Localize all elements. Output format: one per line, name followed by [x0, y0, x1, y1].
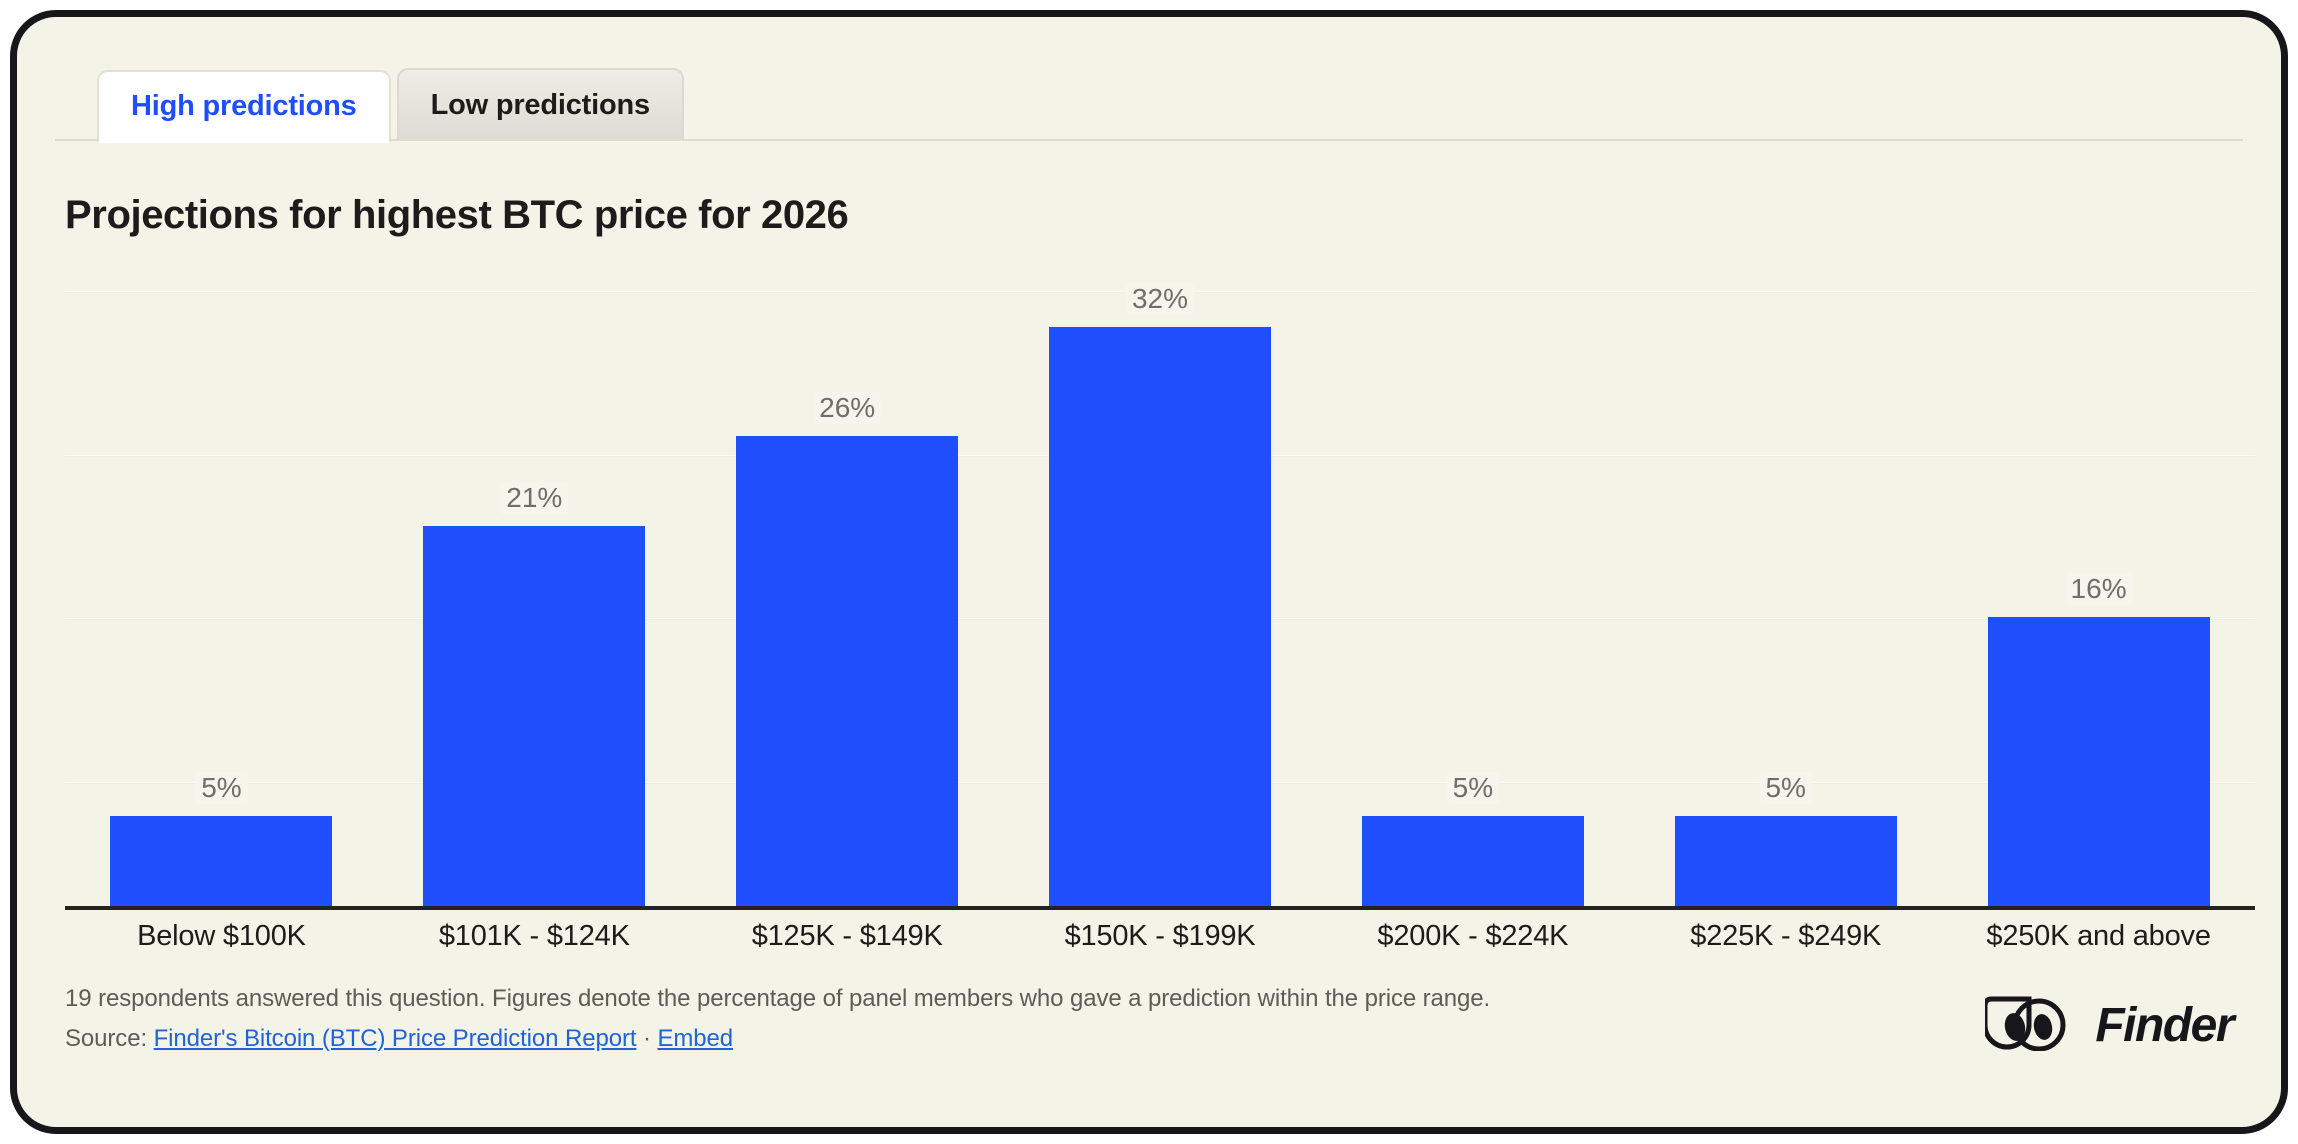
bar-group: 26%: [691, 255, 1004, 906]
x-axis-tick-label: $101K - $124K: [378, 920, 691, 953]
bar-value-label: 21%: [500, 482, 568, 514]
finder-eyes-icon: [1985, 995, 2083, 1056]
chart-footer: 19 respondents answered this question. F…: [65, 982, 2233, 1053]
x-axis-tick-label: Below $100K: [65, 920, 378, 953]
chart-card: High predictions Low predictions Project…: [10, 10, 2288, 1134]
bar-value-label: 5%: [1447, 772, 1499, 804]
bar[interactable]: 26%: [736, 436, 958, 906]
page-title: Projections for highest BTC price for 20…: [65, 193, 848, 238]
bar-group: 16%: [1942, 255, 2255, 906]
x-axis-tick-label: $150K - $199K: [1004, 920, 1317, 953]
tab-bar: High predictions Low predictions: [17, 64, 2281, 141]
x-axis-line: [65, 906, 2255, 910]
bar[interactable]: 5%: [1362, 816, 1584, 906]
bar-value-label: 5%: [1759, 772, 1811, 804]
bar-series: 5% 21% 26% 32% 5%: [65, 255, 2255, 906]
bar-group: 5%: [1316, 255, 1629, 906]
source-prefix: Source:: [65, 1025, 147, 1052]
bar-value-label: 26%: [813, 392, 881, 424]
bar-group: 5%: [65, 255, 378, 906]
bar-group: 21%: [378, 255, 691, 906]
tab-high-predictions-label: High predictions: [131, 90, 357, 123]
finder-logo: Finder: [1985, 995, 2233, 1056]
finder-wordmark: Finder: [2095, 998, 2233, 1053]
bar-value-label: 32%: [1126, 283, 1194, 315]
x-axis-tick-label: $250K and above: [1942, 920, 2255, 953]
bar[interactable]: 21%: [423, 526, 645, 906]
tab-low-predictions-label: Low predictions: [431, 89, 650, 122]
bar-group: 5%: [1629, 255, 1942, 906]
footnote-text: 19 respondents answered this question. F…: [65, 982, 2233, 1017]
bar[interactable]: 32%: [1049, 327, 1271, 906]
tab-low-predictions[interactable]: Low predictions: [397, 68, 684, 141]
x-axis-tick-label: $225K - $249K: [1629, 920, 1942, 953]
bar[interactable]: 16%: [1988, 617, 2210, 906]
source-report-link[interactable]: Finder's Bitcoin (BTC) Price Prediction …: [154, 1025, 637, 1052]
bar-group: 32%: [1004, 255, 1317, 906]
x-axis-tick-label: $200K - $224K: [1316, 920, 1629, 953]
bar-value-label: 16%: [2065, 573, 2133, 605]
tab-list: High predictions Low predictions: [97, 68, 684, 141]
bar[interactable]: 5%: [110, 816, 332, 906]
bar-value-label: 5%: [195, 772, 247, 804]
bar[interactable]: 5%: [1675, 816, 1897, 906]
embed-link[interactable]: Embed: [657, 1025, 733, 1052]
x-axis-labels: Below $100K $101K - $124K $125K - $149K …: [65, 920, 2255, 953]
source-separator: ·: [643, 1025, 651, 1052]
tab-high-predictions[interactable]: High predictions: [97, 70, 391, 143]
source-line: Source: Finder's Bitcoin (BTC) Price Pre…: [65, 1025, 2233, 1053]
x-axis-tick-label: $125K - $149K: [691, 920, 1004, 953]
chart-plot-area: 5% 21% 26% 32% 5%: [65, 255, 2255, 910]
